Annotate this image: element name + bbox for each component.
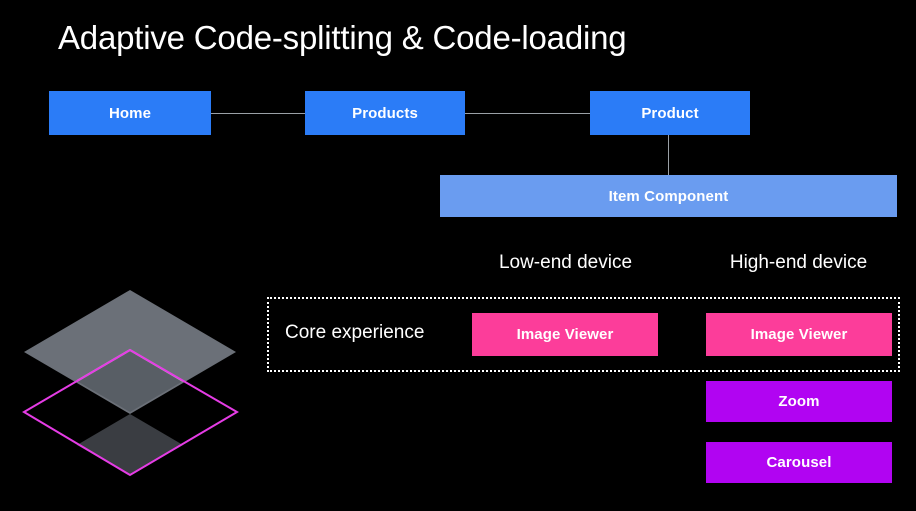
route-node-products-label: Products [352,105,418,122]
feature-box-image-viewer-high-end-label: Image Viewer [751,326,848,343]
route-node-home-label: Home [109,105,151,122]
column-header-low-end-device: Low-end device [473,252,658,274]
connector-product-item-component [668,135,669,176]
slide-canvas: Adaptive Code-splitting & Code-loading H… [0,0,916,511]
connector-home-products [211,113,306,114]
feature-box-zoom-label: Zoom [778,393,819,410]
route-node-product[interactable]: Product [590,91,750,135]
route-node-product-label: Product [641,105,698,122]
component-node-item-component-label: Item Component [609,188,729,205]
feature-box-carousel[interactable]: Carousel [706,442,892,483]
feature-box-image-viewer-high-end[interactable]: Image Viewer [706,313,892,356]
route-node-home[interactable]: Home [49,91,211,135]
feature-box-image-viewer-low-end[interactable]: Image Viewer [472,313,658,356]
page-title: Adaptive Code-splitting & Code-loading [58,19,626,57]
core-experience-label: Core experience [285,322,424,344]
feature-box-carousel-label: Carousel [767,454,832,471]
feature-box-zoom[interactable]: Zoom [706,381,892,422]
feature-box-image-viewer-low-end-label: Image Viewer [517,326,614,343]
connector-products-product [465,113,591,114]
column-header-high-end-device: High-end device [706,252,891,274]
component-node-item-component[interactable]: Item Component [440,175,897,217]
route-node-products[interactable]: Products [305,91,465,135]
isometric-layers-diagram [0,275,260,490]
